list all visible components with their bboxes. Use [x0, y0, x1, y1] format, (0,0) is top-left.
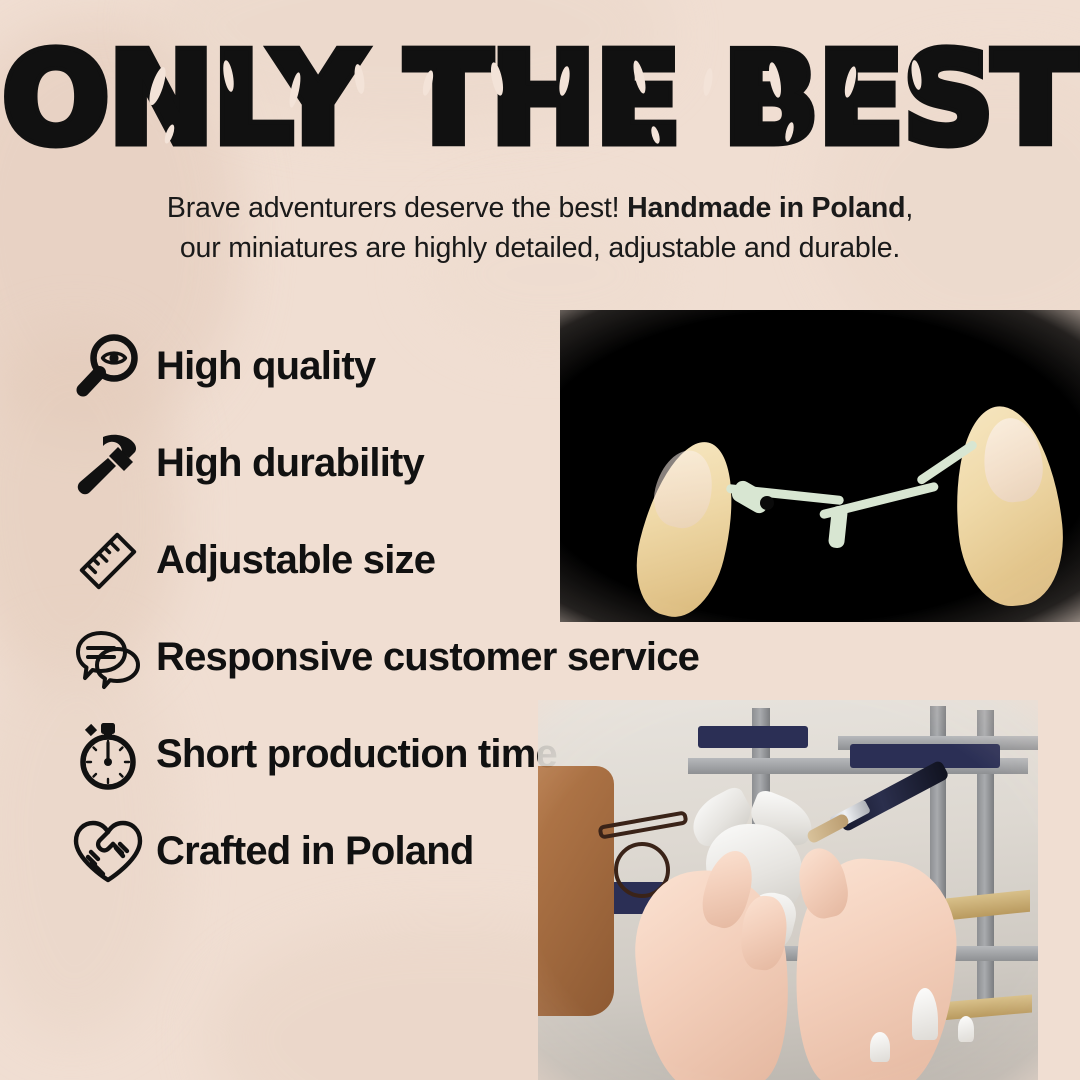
hammer-icon	[60, 431, 156, 497]
page-title: ONLY THE BEST	[0, 36, 1080, 162]
photo-workshop-painting	[538, 700, 1038, 1080]
stopwatch-icon	[60, 720, 156, 790]
subtitle-line-1: Brave adventurers deserve the best! Hand…	[167, 192, 913, 224]
subtitle-line-2: our miniatures are highly detailed, adju…	[180, 232, 900, 264]
magnifier-eye-icon	[60, 333, 156, 401]
feature-label: High quality	[156, 344, 375, 389]
feature-label: Adjustable size	[156, 538, 435, 583]
feature-item-responsive-customer-service: Responsive customer service	[60, 609, 790, 706]
ruler-icon	[60, 527, 156, 595]
subtitle: Brave adventurers deserve the best! Hand…	[90, 188, 990, 269]
feature-label: Short production time	[156, 732, 557, 777]
feature-label: Responsive customer service	[156, 635, 699, 680]
promotional-poster: ONLY THE BEST Brave adventurers deserve …	[0, 0, 1080, 1080]
speech-bubbles-icon	[60, 625, 156, 691]
handshake-heart-icon	[60, 818, 156, 886]
feature-label: High durability	[156, 441, 424, 486]
photo-flexible-miniature	[560, 310, 1080, 622]
feature-label: Crafted in Poland	[156, 829, 474, 874]
